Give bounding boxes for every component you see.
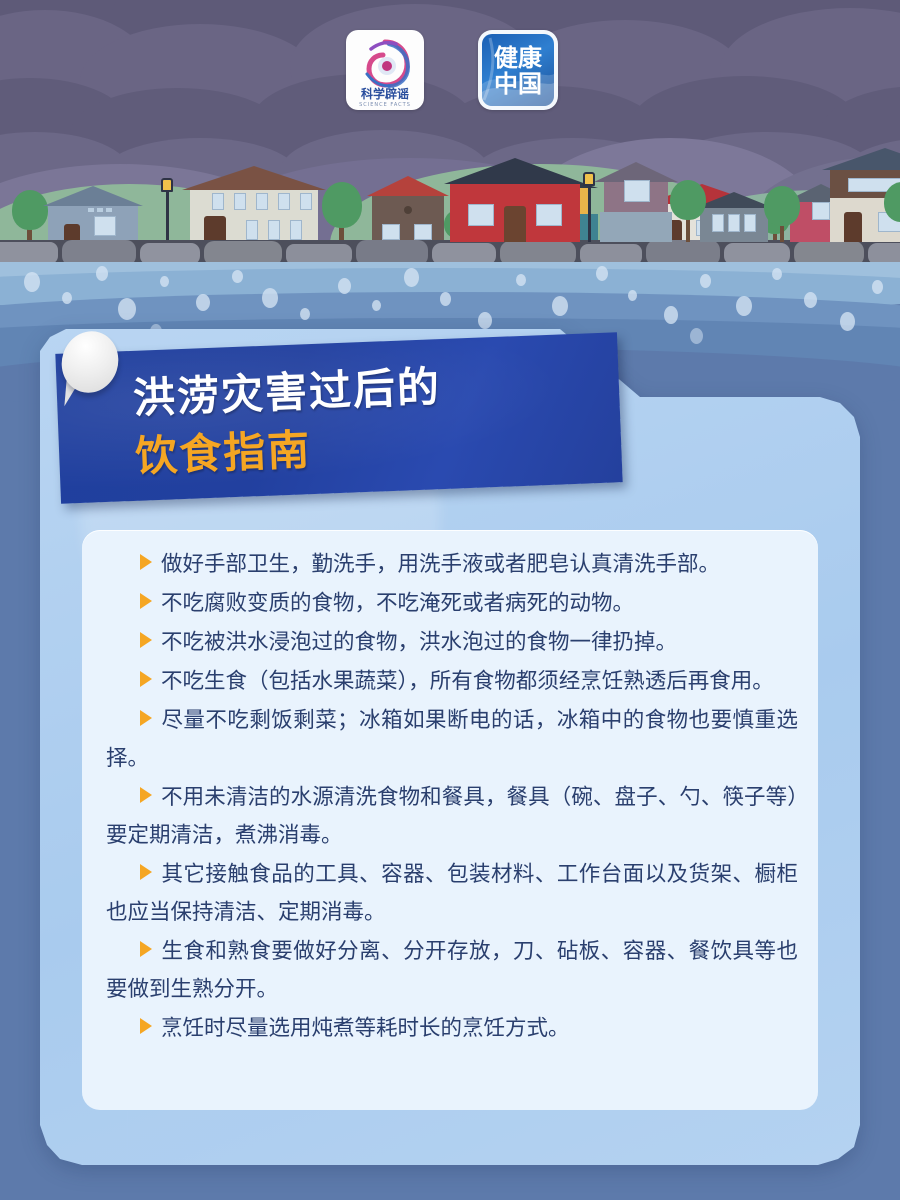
tips-list: 做好手部卫生，勤洗手，用洗手液或者肥皂认真清洗手部。 不吃腐败变质的食物，不吃淹… (106, 546, 798, 1049)
tip-text: 生食和熟食要做好分离、分开存放，刀、砧板、容器、餐饮具等也要做到生熟分开。 (106, 939, 798, 1002)
title-banner: 洪涝灾害过后的 饮食指南 (55, 332, 622, 503)
tip-text: 做好手部卫生，勤洗手，用洗手液或者肥皂认真清洗手部。 (161, 552, 720, 577)
svg-text:科学辟谣: 科学辟谣 (361, 86, 409, 101)
list-item: 生食和熟食要做好分离、分开存放，刀、砧板、容器、餐饮具等也要做到生熟分开。 (106, 933, 798, 1009)
list-item: 不吃生食（包括水果蔬菜），所有食物都须经烹饪熟透后再食用。 (106, 663, 798, 701)
triangle-bullet-icon (140, 593, 152, 609)
list-item: 做好手部卫生，勤洗手，用洗手液或者肥皂认真清洗手部。 (106, 546, 798, 584)
list-item: 烹饪时尽量选用炖煮等耗时长的烹饪方式。 (106, 1010, 798, 1048)
triangle-bullet-icon (140, 554, 152, 570)
svg-text:中国: 中国 (494, 70, 542, 98)
tip-text: 不吃生食（包括水果蔬菜），所有食物都须经烹饪熟透后再食用。 (161, 669, 774, 694)
logo-bar: 科学辟谣 SCIENCE FACTS 健康 中国 (330, 30, 580, 112)
svg-text:健康: 健康 (494, 44, 543, 72)
list-item: 不吃被洪水浸泡过的食物，洪水泡过的食物一律扔掉。 (106, 624, 798, 662)
title-line-1: 洪涝灾害过后的 (132, 353, 442, 426)
pushpin-icon (56, 325, 122, 411)
triangle-bullet-icon (140, 864, 152, 880)
triangle-bullet-icon (140, 632, 152, 648)
tip-text: 烹饪时尽量选用炖煮等耗时长的烹饪方式。 (161, 1016, 570, 1041)
list-item: 其它接触食品的工具、容器、包装材料、工作台面以及货架、橱柜也应当保持清洁、定期消… (106, 856, 798, 932)
triangle-bullet-icon (140, 787, 152, 803)
tip-text: 不吃腐败变质的食物，不吃淹死或者病死的动物。 (161, 591, 634, 616)
healthy-china-logo: 健康 中国 (478, 30, 558, 110)
spiral-icon: 科学辟谣 SCIENCE FACTS (346, 30, 424, 110)
list-item: 不用未清洁的水源清洗食物和餐具，餐具（碗、盘子、勺、筷子等）要定期清洁，煮沸消毒… (106, 779, 798, 855)
triangle-bullet-icon (140, 710, 152, 726)
tips-panel: 做好手部卫生，勤洗手，用洗手液或者肥皂认真清洗手部。 不吃腐败变质的食物，不吃淹… (82, 530, 818, 1110)
svg-text:SCIENCE FACTS: SCIENCE FACTS (359, 102, 411, 108)
list-item: 尽量不吃剩饭剩菜；冰箱如果断电的话，冰箱中的食物也要慎重选择。 (106, 702, 798, 778)
tip-text: 其它接触食品的工具、容器、包装材料、工作台面以及货架、橱柜也应当保持清洁、定期消… (106, 862, 798, 925)
triangle-bullet-icon (140, 1018, 152, 1034)
tip-text: 不用未清洁的水源清洗食物和餐具，餐具（碗、盘子、勺、筷子等）要定期清洁，煮沸消毒… (106, 785, 798, 848)
poster-root: 洪涝灾害过后的 饮食指南 做好手部卫生，勤洗手，用洗手液或者肥皂认真清洗手部。 … (0, 0, 900, 1200)
triangle-bullet-icon (140, 671, 152, 687)
tip-text: 尽量不吃剩饭剩菜；冰箱如果断电的话，冰箱中的食物也要慎重选择。 (106, 708, 798, 771)
list-item: 不吃腐败变质的食物，不吃淹死或者病死的动物。 (106, 585, 798, 623)
tip-text: 不吃被洪水浸泡过的食物，洪水泡过的食物一律扔掉。 (161, 630, 677, 655)
triangle-bullet-icon (140, 941, 152, 957)
content-card: 洪涝灾害过后的 饮食指南 做好手部卫生，勤洗手，用洗手液或者肥皂认真清洗手部。 … (40, 325, 860, 1165)
title-line-2: 饮食指南 (134, 416, 312, 484)
science-facts-logo: 科学辟谣 SCIENCE FACTS (346, 30, 424, 110)
town-row-foreground (0, 150, 900, 242)
